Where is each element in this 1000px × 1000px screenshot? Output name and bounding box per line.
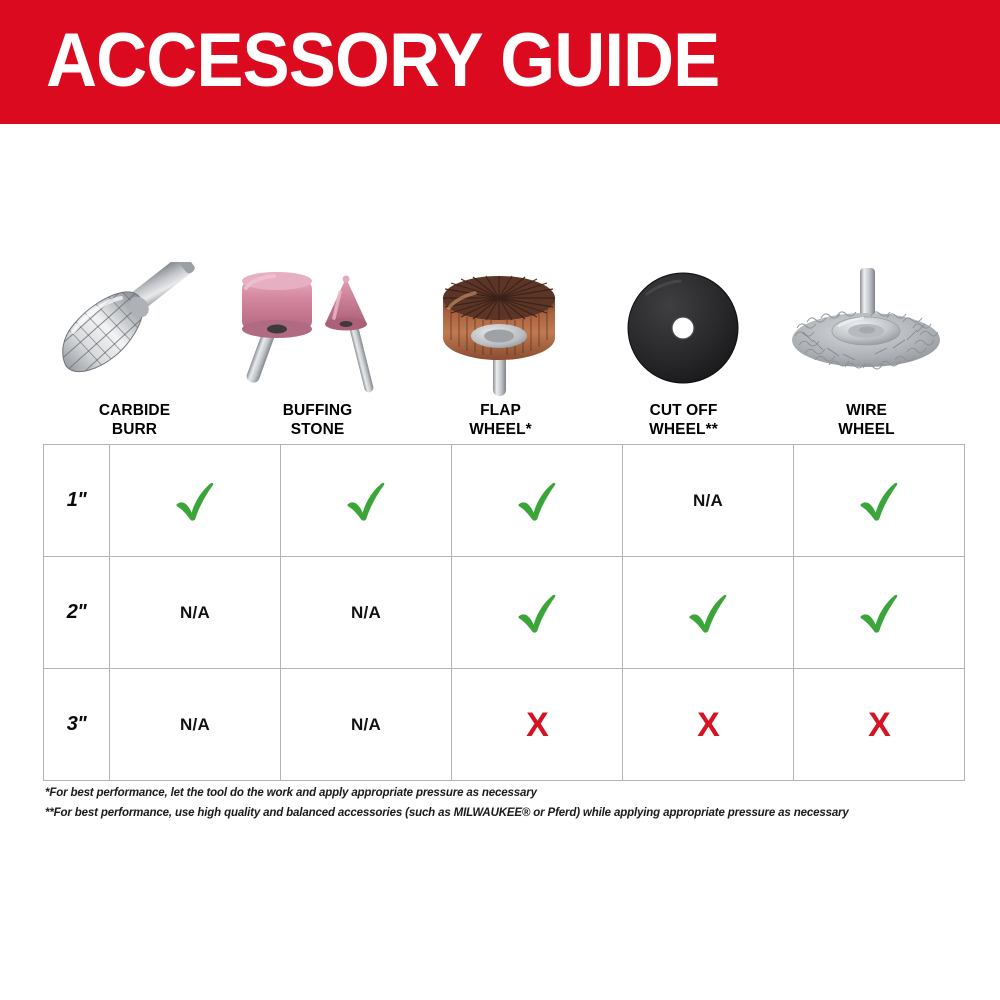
column-header-line1: CARBIDE xyxy=(43,401,226,420)
cell-2in-cut-off-wheel xyxy=(623,557,794,669)
row-size-label: 1" xyxy=(44,445,110,557)
cut-off-wheel-icon xyxy=(592,262,775,396)
table-row: 3" N/A N/A X X X xyxy=(44,669,965,781)
column-header-row: CARBIDE BURR BUFFING STONE FLAP WHEEL* C… xyxy=(43,401,958,439)
compatibility-table: 1" N/A 2" N/A N/A 3" N/A N/A X X X xyxy=(43,444,965,781)
cell-3in-cut-off-wheel: X xyxy=(623,669,794,781)
column-header-wire-wheel: WIRE WHEEL xyxy=(775,401,958,439)
cross-icon: X xyxy=(526,708,548,742)
column-header-cut-off-wheel: CUT OFF WHEEL** xyxy=(592,401,775,439)
na-label: N/A xyxy=(351,715,381,734)
check-icon xyxy=(686,591,730,635)
footnotes: *For best performance, let the tool do t… xyxy=(45,783,965,823)
column-header-line2: STONE xyxy=(226,420,409,439)
header-banner: ACCESSORY GUIDE xyxy=(0,0,1000,124)
check-icon xyxy=(515,591,559,635)
cell-3in-flap-wheel: X xyxy=(452,669,623,781)
na-label: N/A xyxy=(351,603,381,622)
cross-icon: X xyxy=(868,708,890,742)
cell-3in-wire-wheel: X xyxy=(794,669,965,781)
carbide-burr-icon xyxy=(43,262,226,396)
cell-1in-wire-wheel xyxy=(794,445,965,557)
cell-1in-flap-wheel xyxy=(452,445,623,557)
compatibility-table-body: 1" N/A 2" N/A N/A 3" N/A N/A X X X xyxy=(44,445,965,781)
column-header-line2: WHEEL xyxy=(775,420,958,439)
cell-1in-cut-off-wheel: N/A xyxy=(623,445,794,557)
product-image-row xyxy=(43,262,958,402)
product-cell-buffing-stone xyxy=(226,262,409,402)
cell-2in-buffing-stone: N/A xyxy=(281,557,452,669)
column-header-flap-wheel: FLAP WHEEL* xyxy=(409,401,592,439)
column-header-line2: WHEEL** xyxy=(592,420,775,439)
column-header-line1: WIRE xyxy=(775,401,958,420)
product-cell-wire-wheel xyxy=(775,262,958,402)
column-header-buffing-stone: BUFFING STONE xyxy=(226,401,409,439)
table-row: 1" N/A xyxy=(44,445,965,557)
check-icon xyxy=(515,479,559,523)
cell-1in-carbide-burr xyxy=(110,445,281,557)
na-label: N/A xyxy=(180,715,210,734)
footnote-single-asterisk: *For best performance, let the tool do t… xyxy=(45,783,965,803)
flap-wheel-icon xyxy=(409,262,592,396)
check-icon xyxy=(173,479,217,523)
cell-3in-buffing-stone: N/A xyxy=(281,669,452,781)
column-header-line2: WHEEL* xyxy=(409,420,592,439)
product-cell-carbide-burr xyxy=(43,262,226,402)
product-cell-flap-wheel xyxy=(409,262,592,402)
na-label: N/A xyxy=(693,491,723,510)
column-header-line1: CUT OFF xyxy=(592,401,775,420)
row-size-label: 2" xyxy=(44,557,110,669)
wire-wheel-icon xyxy=(775,262,958,396)
na-label: N/A xyxy=(180,603,210,622)
product-cell-cut-off-wheel xyxy=(592,262,775,402)
cross-icon: X xyxy=(697,708,719,742)
column-header-line2: BURR xyxy=(43,420,226,439)
row-size-label: 3" xyxy=(44,669,110,781)
check-icon xyxy=(857,591,901,635)
cell-2in-carbide-burr: N/A xyxy=(110,557,281,669)
table-row: 2" N/A N/A xyxy=(44,557,965,669)
column-header-line1: FLAP xyxy=(409,401,592,420)
page-title: ACCESSORY GUIDE xyxy=(46,16,719,106)
column-header-carbide-burr: CARBIDE BURR xyxy=(43,401,226,439)
cell-2in-flap-wheel xyxy=(452,557,623,669)
footnote-double-asterisk: **For best performance, use high quality… xyxy=(45,803,965,823)
buffing-stone-icon xyxy=(226,262,409,396)
cell-1in-buffing-stone xyxy=(281,445,452,557)
check-icon xyxy=(857,479,901,523)
column-header-line1: BUFFING xyxy=(226,401,409,420)
cell-3in-carbide-burr: N/A xyxy=(110,669,281,781)
check-icon xyxy=(344,479,388,523)
cell-2in-wire-wheel xyxy=(794,557,965,669)
